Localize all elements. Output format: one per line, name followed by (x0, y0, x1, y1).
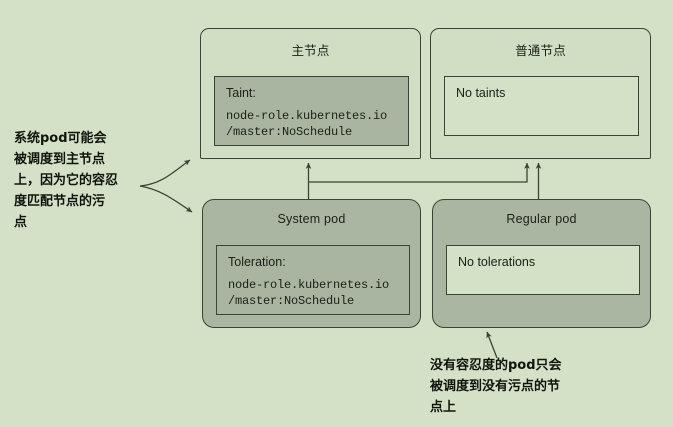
system-pod-toleration-label: Toleration: (228, 255, 398, 270)
master-node-taint-label: Taint: (226, 86, 397, 101)
regular-node-box[interactable]: 普通节点 No taints (430, 28, 651, 159)
regular-node-title: 普通节点 (431, 40, 650, 59)
master-node-box[interactable]: 主节点 Taint: node-role.kubernetes.io /mast… (200, 28, 421, 159)
master-node-title: 主节点 (201, 40, 420, 59)
regular-node-taint-panel: No taints (444, 76, 639, 136)
regular-node-taint-label: No taints (456, 86, 627, 101)
master-node-taint-value-line-1: node-role.kubernetes.io (226, 108, 397, 124)
regular-pod-toleration-panel: No tolerations (446, 245, 640, 295)
regular-pod-toleration-label: No tolerations (458, 255, 628, 270)
regular-pod-box[interactable]: Regular pod No tolerations (432, 199, 651, 328)
master-node-taint-value-line-2: /master:NoSchedule (226, 124, 397, 140)
system-pod-toleration-value-line-1: node-role.kubernetes.io (228, 277, 398, 293)
master-node-taint-panel: Taint: node-role.kubernetes.io /master:N… (214, 76, 409, 146)
annotation-bottom-note: 没有容忍度的pod只会 被调度到没有污点的节 点上 (430, 355, 645, 418)
connector-system-pod-to-regular-node (309, 163, 528, 182)
diagram-canvas: 主节点 Taint: node-role.kubernetes.io /mast… (0, 0, 673, 427)
annotation-left-note: 系统pod可能会 被调度到主节点 上，因为它的容忍 度匹配节点的污 点 (14, 128, 164, 233)
system-pod-toleration-value-line-2: /master:NoSchedule (228, 293, 398, 309)
system-pod-box[interactable]: System pod Toleration: node-role.kuberne… (202, 199, 421, 328)
system-pod-title: System pod (203, 212, 420, 226)
regular-pod-title: Regular pod (433, 212, 650, 226)
system-pod-toleration-panel: Toleration: node-role.kubernetes.io /mas… (216, 245, 410, 315)
